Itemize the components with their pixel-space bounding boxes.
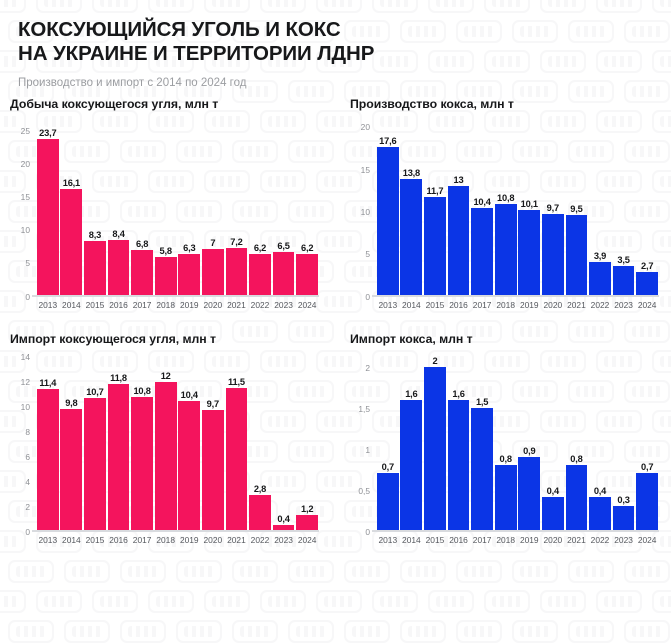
bar-group[interactable]: 1,6 bbox=[447, 350, 471, 530]
x-tick-label: 2016 bbox=[107, 535, 131, 545]
bar-group[interactable]: 2,7 bbox=[635, 115, 659, 295]
bar-value-label: 7,2 bbox=[225, 237, 249, 247]
chart-panel-coking-coal-import: Импорт коксующегося угля, млн т 14121086… bbox=[0, 332, 331, 567]
bar-value-label: 10,4 bbox=[177, 390, 201, 400]
bar[interactable] bbox=[566, 465, 588, 530]
bar-group[interactable]: 0,3 bbox=[612, 350, 636, 530]
bar[interactable] bbox=[296, 254, 318, 295]
bar-group[interactable]: 0,9 bbox=[517, 350, 541, 530]
x-tick-label: 2015 bbox=[83, 300, 107, 310]
x-tick-label: 2015 bbox=[423, 535, 447, 545]
bar-group[interactable]: 0,4 bbox=[272, 350, 296, 530]
bar-value-label: 8,4 bbox=[107, 229, 131, 239]
y-tick-label: 8 bbox=[25, 427, 30, 437]
bar-value-label: 0,7 bbox=[635, 462, 659, 472]
x-tick-label: 2014 bbox=[400, 535, 424, 545]
bar[interactable] bbox=[60, 189, 82, 295]
bar-value-label: 0,8 bbox=[494, 454, 518, 464]
y-tick-label: 10 bbox=[21, 225, 30, 235]
y-tick-label: 20 bbox=[361, 122, 370, 132]
y-axis-labels: 21,510,50 bbox=[350, 350, 374, 532]
bar-value-label: 11,4 bbox=[36, 378, 60, 388]
page-subtitle: Производство и импорт с 2014 по 2024 год bbox=[18, 77, 653, 89]
bar-value-label: 9,8 bbox=[60, 398, 84, 408]
bar[interactable] bbox=[226, 388, 248, 530]
x-tick-label: 2024 bbox=[295, 535, 319, 545]
x-tick-label: 2019 bbox=[177, 535, 201, 545]
x-tick-label: 2018 bbox=[494, 535, 518, 545]
bar[interactable] bbox=[377, 147, 399, 295]
x-tick-label: 2022 bbox=[248, 535, 272, 545]
watermark-logo-icon bbox=[624, 620, 670, 643]
bar-group[interactable]: 0,7 bbox=[376, 350, 400, 530]
bar[interactable] bbox=[108, 240, 130, 295]
x-tick-label: 2021 bbox=[565, 535, 589, 545]
header: КОКСУЮЩИЙСЯ УГОЛЬ И КОКС НА УКРАИНЕ И ТЕ… bbox=[0, 0, 671, 89]
bar-group[interactable]: 10,7 bbox=[83, 350, 107, 530]
bar[interactable] bbox=[613, 266, 635, 295]
bar-value-label: 0,4 bbox=[272, 514, 296, 524]
x-tick-label: 2022 bbox=[248, 300, 272, 310]
x-axis-labels: 2013201420152016201720182019202020212022… bbox=[376, 300, 659, 310]
page-title-line-2: НА УКРАИНЕ И ТЕРРИТОРИИ ЛДНР bbox=[18, 42, 653, 66]
x-tick-label: 2021 bbox=[565, 300, 589, 310]
bar[interactable] bbox=[202, 249, 224, 295]
bar[interactable] bbox=[202, 410, 224, 530]
bar-group[interactable]: 9,7 bbox=[541, 115, 565, 295]
y-tick-label: 25 bbox=[21, 126, 30, 136]
bar-value-label: 11,8 bbox=[107, 373, 131, 383]
chart-title: Импорт коксующегося угля, млн т bbox=[10, 332, 323, 346]
bar-value-label: 13 bbox=[447, 175, 471, 185]
bar-group[interactable]: 6,8 bbox=[130, 115, 154, 295]
bar-value-label: 11,5 bbox=[225, 377, 249, 387]
x-axis-line bbox=[32, 295, 319, 297]
bar-group[interactable]: 10,4 bbox=[177, 350, 201, 530]
bar-group[interactable]: 0,7 bbox=[635, 350, 659, 530]
bar-value-label: 8,3 bbox=[83, 230, 107, 240]
bar[interactable] bbox=[377, 473, 399, 530]
x-axis-labels: 2013201420152016201720182019202020212022… bbox=[376, 535, 659, 545]
bar[interactable] bbox=[37, 389, 59, 530]
y-axis-labels: 20151050 bbox=[350, 115, 374, 297]
x-tick-label: 2020 bbox=[541, 535, 565, 545]
bar[interactable] bbox=[60, 409, 82, 530]
bar-group[interactable]: 11,5 bbox=[225, 350, 249, 530]
bar[interactable] bbox=[566, 215, 588, 295]
x-tick-label: 2013 bbox=[36, 535, 60, 545]
bar-group[interactable]: 13,8 bbox=[400, 115, 424, 295]
y-tick-label: 15 bbox=[21, 192, 30, 202]
bar-group[interactable]: 3,9 bbox=[588, 115, 612, 295]
bar-value-label: 13,8 bbox=[400, 168, 424, 178]
x-tick-label: 2022 bbox=[588, 300, 612, 310]
y-tick-label: 5 bbox=[25, 258, 30, 268]
x-tick-label: 2019 bbox=[517, 300, 541, 310]
watermark-logo-icon bbox=[568, 620, 614, 643]
bar-group[interactable]: 2 bbox=[423, 350, 447, 530]
bar-group[interactable]: 9,5 bbox=[565, 115, 589, 295]
bar-value-label: 6,8 bbox=[130, 239, 154, 249]
watermark-logo-icon bbox=[120, 620, 166, 643]
bar-group[interactable]: 0,8 bbox=[494, 350, 518, 530]
chart-title: Добыча коксующегося угля, млн т bbox=[10, 97, 323, 111]
bar-value-label: 6,3 bbox=[177, 243, 201, 253]
chart-title: Импорт кокса, млн т bbox=[350, 332, 663, 346]
bar-group[interactable]: 6,5 bbox=[272, 115, 296, 295]
bar-value-label: 9,7 bbox=[201, 399, 225, 409]
bar-value-label: 16,1 bbox=[60, 178, 84, 188]
x-tick-label: 2016 bbox=[447, 535, 471, 545]
x-tick-label: 2024 bbox=[635, 300, 659, 310]
bars-container: 17,613,811,71310,410,810,19,79,53,93,52,… bbox=[376, 115, 659, 295]
bar-group[interactable]: 5,8 bbox=[154, 115, 178, 295]
bar-group[interactable]: 17,6 bbox=[376, 115, 400, 295]
x-tick-label: 2020 bbox=[201, 535, 225, 545]
bar-group[interactable]: 23,7 bbox=[36, 115, 60, 295]
bar[interactable] bbox=[542, 214, 564, 295]
bars-container: 0,71,621,61,50,80,90,40,80,40,30,7 bbox=[376, 350, 659, 530]
bar-value-label: 9,5 bbox=[565, 204, 589, 214]
y-tick-label: 15 bbox=[361, 165, 370, 175]
x-tick-label: 2019 bbox=[177, 300, 201, 310]
watermark-logo-icon bbox=[400, 620, 446, 643]
bar[interactable] bbox=[495, 204, 517, 295]
bar-value-label: 17,6 bbox=[376, 136, 400, 146]
bar[interactable] bbox=[249, 254, 271, 295]
bar[interactable] bbox=[589, 262, 611, 295]
bar-value-label: 10,1 bbox=[517, 199, 541, 209]
bar-group[interactable]: 7 bbox=[201, 115, 225, 295]
bar[interactable] bbox=[155, 257, 177, 295]
x-axis-labels: 2013201420152016201720182019202020212022… bbox=[36, 300, 319, 310]
bar-value-label: 7 bbox=[201, 238, 225, 248]
bars-container: 11,49,810,711,810,81210,49,711,52,80,41,… bbox=[36, 350, 319, 530]
y-tick-label: 10 bbox=[21, 402, 30, 412]
x-tick-label: 2021 bbox=[225, 300, 249, 310]
bar-value-label: 1,2 bbox=[295, 504, 319, 514]
y-tick-label: 20 bbox=[21, 159, 30, 169]
bar[interactable] bbox=[178, 254, 200, 295]
bar-value-label: 0,7 bbox=[376, 462, 400, 472]
y-tick-label: 0 bbox=[365, 292, 370, 302]
bar-group[interactable]: 8,3 bbox=[83, 115, 107, 295]
watermark-logo-icon bbox=[512, 620, 558, 643]
x-tick-label: 2018 bbox=[154, 535, 178, 545]
x-tick-label: 2023 bbox=[612, 535, 636, 545]
bar[interactable] bbox=[249, 495, 271, 530]
x-tick-label: 2017 bbox=[130, 535, 154, 545]
chart-panel-coke-import: Импорт кокса, млн т 21,510,50 0,71,621,6… bbox=[340, 332, 671, 567]
x-tick-label: 2015 bbox=[423, 300, 447, 310]
y-axis-labels: 2520151050 bbox=[10, 115, 34, 297]
bar-group[interactable]: 10,4 bbox=[470, 115, 494, 295]
bar-group[interactable]: 6,2 bbox=[248, 115, 272, 295]
bar[interactable] bbox=[131, 397, 153, 530]
y-tick-label: 0 bbox=[25, 527, 30, 537]
bar-value-label: 1,6 bbox=[447, 389, 471, 399]
y-tick-label: 12 bbox=[21, 377, 30, 387]
bar-value-label: 2,7 bbox=[635, 261, 659, 271]
bar[interactable] bbox=[518, 457, 540, 530]
bar-group[interactable]: 0,4 bbox=[541, 350, 565, 530]
plot-area: 2520151050 23,716,18,38,46,85,86,377,26,… bbox=[36, 115, 319, 297]
x-tick-label: 2018 bbox=[154, 300, 178, 310]
bar-value-label: 6,5 bbox=[272, 241, 296, 251]
bar-group[interactable]: 1,5 bbox=[470, 350, 494, 530]
bar[interactable] bbox=[636, 473, 658, 530]
bar[interactable] bbox=[636, 272, 658, 295]
x-tick-label: 2016 bbox=[447, 300, 471, 310]
bars-container: 23,716,18,38,46,85,86,377,26,26,56,2 bbox=[36, 115, 319, 295]
y-tick-label: 10 bbox=[361, 207, 370, 217]
x-tick-label: 2023 bbox=[612, 300, 636, 310]
bar[interactable] bbox=[155, 382, 177, 530]
bar[interactable] bbox=[542, 497, 564, 530]
y-tick-label: 0 bbox=[25, 292, 30, 302]
y-tick-label: 1,5 bbox=[358, 404, 370, 414]
x-tick-label: 2014 bbox=[400, 300, 424, 310]
bar-value-label: 2 bbox=[423, 356, 447, 366]
x-tick-label: 2017 bbox=[130, 300, 154, 310]
x-tick-label: 2018 bbox=[494, 300, 518, 310]
watermark-logo-icon bbox=[344, 620, 390, 643]
plot-area: 14121086420 11,49,810,711,810,81210,49,7… bbox=[36, 350, 319, 532]
page-title-line-1: КОКСУЮЩИЙСЯ УГОЛЬ И КОКС bbox=[18, 18, 653, 42]
y-tick-label: 4 bbox=[25, 477, 30, 487]
bar-group[interactable]: 11,7 bbox=[423, 115, 447, 295]
bar-value-label: 11,7 bbox=[423, 186, 447, 196]
bar-value-label: 5,8 bbox=[154, 246, 178, 256]
page-title: КОКСУЮЩИЙСЯ УГОЛЬ И КОКС НА УКРАИНЕ И ТЕ… bbox=[18, 18, 653, 66]
bar[interactable] bbox=[296, 515, 318, 530]
bar-value-label: 0,9 bbox=[517, 446, 541, 456]
bar[interactable] bbox=[400, 400, 422, 530]
bar[interactable] bbox=[37, 139, 59, 294]
bar[interactable] bbox=[448, 400, 470, 530]
bar-value-label: 2,8 bbox=[248, 484, 272, 494]
bar[interactable] bbox=[471, 408, 493, 530]
bar-value-label: 3,5 bbox=[612, 255, 636, 265]
x-tick-label: 2014 bbox=[60, 535, 84, 545]
bar[interactable] bbox=[273, 252, 295, 295]
x-tick-label: 2024 bbox=[635, 535, 659, 545]
watermark-logo-icon bbox=[176, 620, 222, 643]
x-tick-label: 2017 bbox=[470, 300, 494, 310]
x-tick-label: 2024 bbox=[295, 300, 319, 310]
y-tick-label: 2 bbox=[365, 363, 370, 373]
bar-value-label: 1,5 bbox=[470, 397, 494, 407]
x-tick-label: 2021 bbox=[225, 535, 249, 545]
bar-group[interactable]: 1,6 bbox=[400, 350, 424, 530]
x-tick-label: 2023 bbox=[272, 300, 296, 310]
x-tick-label: 2013 bbox=[376, 300, 400, 310]
x-tick-label: 2013 bbox=[36, 300, 60, 310]
plot-area: 21,510,50 0,71,621,61,50,80,90,40,80,40,… bbox=[376, 350, 659, 532]
bar-group[interactable]: 11,4 bbox=[36, 350, 60, 530]
bar-group[interactable]: 10,8 bbox=[494, 115, 518, 295]
bar-value-label: 1,6 bbox=[400, 389, 424, 399]
x-tick-label: 2020 bbox=[201, 300, 225, 310]
bar-value-label: 6,2 bbox=[295, 243, 319, 253]
bar[interactable] bbox=[424, 367, 446, 530]
y-axis-labels: 14121086420 bbox=[10, 350, 34, 532]
y-tick-label: 1 bbox=[365, 445, 370, 455]
bar[interactable] bbox=[589, 497, 611, 530]
x-tick-label: 2014 bbox=[60, 300, 84, 310]
bar[interactable] bbox=[448, 186, 470, 295]
x-tick-label: 2013 bbox=[376, 535, 400, 545]
bar[interactable] bbox=[518, 210, 540, 295]
bar[interactable] bbox=[84, 241, 106, 295]
bar-value-label: 12 bbox=[154, 371, 178, 381]
y-tick-label: 14 bbox=[21, 352, 30, 362]
bar[interactable] bbox=[226, 248, 248, 295]
charts-grid: Добыча коксующегося угля, млн т 25201510… bbox=[0, 89, 671, 567]
bar-value-label: 0,4 bbox=[541, 486, 565, 496]
watermark-logo-icon bbox=[456, 620, 502, 643]
x-tick-label: 2022 bbox=[588, 535, 612, 545]
bar[interactable] bbox=[495, 465, 517, 530]
bar-value-label: 0,8 bbox=[565, 454, 589, 464]
bar[interactable] bbox=[84, 398, 106, 530]
bar[interactable] bbox=[131, 250, 153, 295]
bar-value-label: 6,2 bbox=[248, 243, 272, 253]
x-tick-label: 2015 bbox=[83, 535, 107, 545]
bar-value-label: 0,4 bbox=[588, 486, 612, 496]
bar-value-label: 10,4 bbox=[470, 197, 494, 207]
watermark-logo-icon bbox=[8, 620, 54, 643]
x-axis-labels: 2013201420152016201720182019202020212022… bbox=[36, 535, 319, 545]
x-tick-label: 2019 bbox=[517, 535, 541, 545]
y-tick-label: 0,5 bbox=[358, 486, 370, 496]
bar[interactable] bbox=[108, 384, 130, 530]
chart-title: Производство кокса, млн т bbox=[350, 97, 663, 111]
watermark-logo-icon bbox=[64, 620, 110, 643]
y-tick-label: 5 bbox=[365, 249, 370, 259]
bar-group[interactable]: 7,2 bbox=[225, 115, 249, 295]
y-tick-label: 2 bbox=[25, 502, 30, 512]
bar-value-label: 10,8 bbox=[494, 193, 518, 203]
chart-panel-coke-production: Производство кокса, млн т 20151050 17,61… bbox=[340, 97, 671, 332]
x-tick-label: 2016 bbox=[107, 300, 131, 310]
bar-group[interactable]: 11,8 bbox=[107, 350, 131, 530]
bar-group[interactable]: 8,4 bbox=[107, 115, 131, 295]
bar-group[interactable]: 13 bbox=[447, 115, 471, 295]
bar-group[interactable]: 12 bbox=[154, 350, 178, 530]
bar-group[interactable]: 9,7 bbox=[201, 350, 225, 530]
bar-group[interactable]: 10,1 bbox=[517, 115, 541, 295]
x-tick-label: 2017 bbox=[470, 535, 494, 545]
bar-value-label: 10,7 bbox=[83, 387, 107, 397]
bar[interactable] bbox=[178, 401, 200, 530]
bar[interactable] bbox=[424, 197, 446, 295]
x-axis-line bbox=[32, 530, 319, 532]
infographic-page: КОКСУЮЩИЙСЯ УГОЛЬ И КОКС НА УКРАИНЕ И ТЕ… bbox=[0, 0, 671, 599]
bar-value-label: 3,9 bbox=[588, 251, 612, 261]
bar-group[interactable]: 0,8 bbox=[565, 350, 589, 530]
bar-value-label: 9,7 bbox=[541, 203, 565, 213]
bar[interactable] bbox=[471, 208, 493, 295]
x-axis-line bbox=[372, 295, 659, 297]
watermark-logo-icon bbox=[288, 620, 334, 643]
bar-group[interactable]: 9,8 bbox=[60, 350, 84, 530]
bar-group[interactable]: 16,1 bbox=[60, 115, 84, 295]
x-tick-label: 2023 bbox=[272, 535, 296, 545]
bar-group[interactable]: 1,2 bbox=[295, 350, 319, 530]
bar-group[interactable]: 6,2 bbox=[295, 115, 319, 295]
x-tick-label: 2020 bbox=[541, 300, 565, 310]
plot-area: 20151050 17,613,811,71310,410,810,19,79,… bbox=[376, 115, 659, 297]
watermark-logo-icon bbox=[232, 620, 278, 643]
bar-group[interactable]: 3,5 bbox=[612, 115, 636, 295]
bar-group[interactable]: 10,8 bbox=[130, 350, 154, 530]
y-tick-label: 0 bbox=[365, 527, 370, 537]
bar[interactable] bbox=[613, 506, 635, 530]
bar-value-label: 23,7 bbox=[36, 128, 60, 138]
bar-value-label: 0,3 bbox=[612, 495, 636, 505]
y-tick-label: 6 bbox=[25, 452, 30, 462]
bar-group[interactable]: 2,8 bbox=[248, 350, 272, 530]
bar-group[interactable]: 6,3 bbox=[177, 115, 201, 295]
bar-value-label: 10,8 bbox=[130, 386, 154, 396]
bar-group[interactable]: 0,4 bbox=[588, 350, 612, 530]
x-axis-line bbox=[372, 530, 659, 532]
chart-panel-coking-coal-production: Добыча коксующегося угля, млн т 25201510… bbox=[0, 97, 331, 332]
bar[interactable] bbox=[400, 179, 422, 295]
